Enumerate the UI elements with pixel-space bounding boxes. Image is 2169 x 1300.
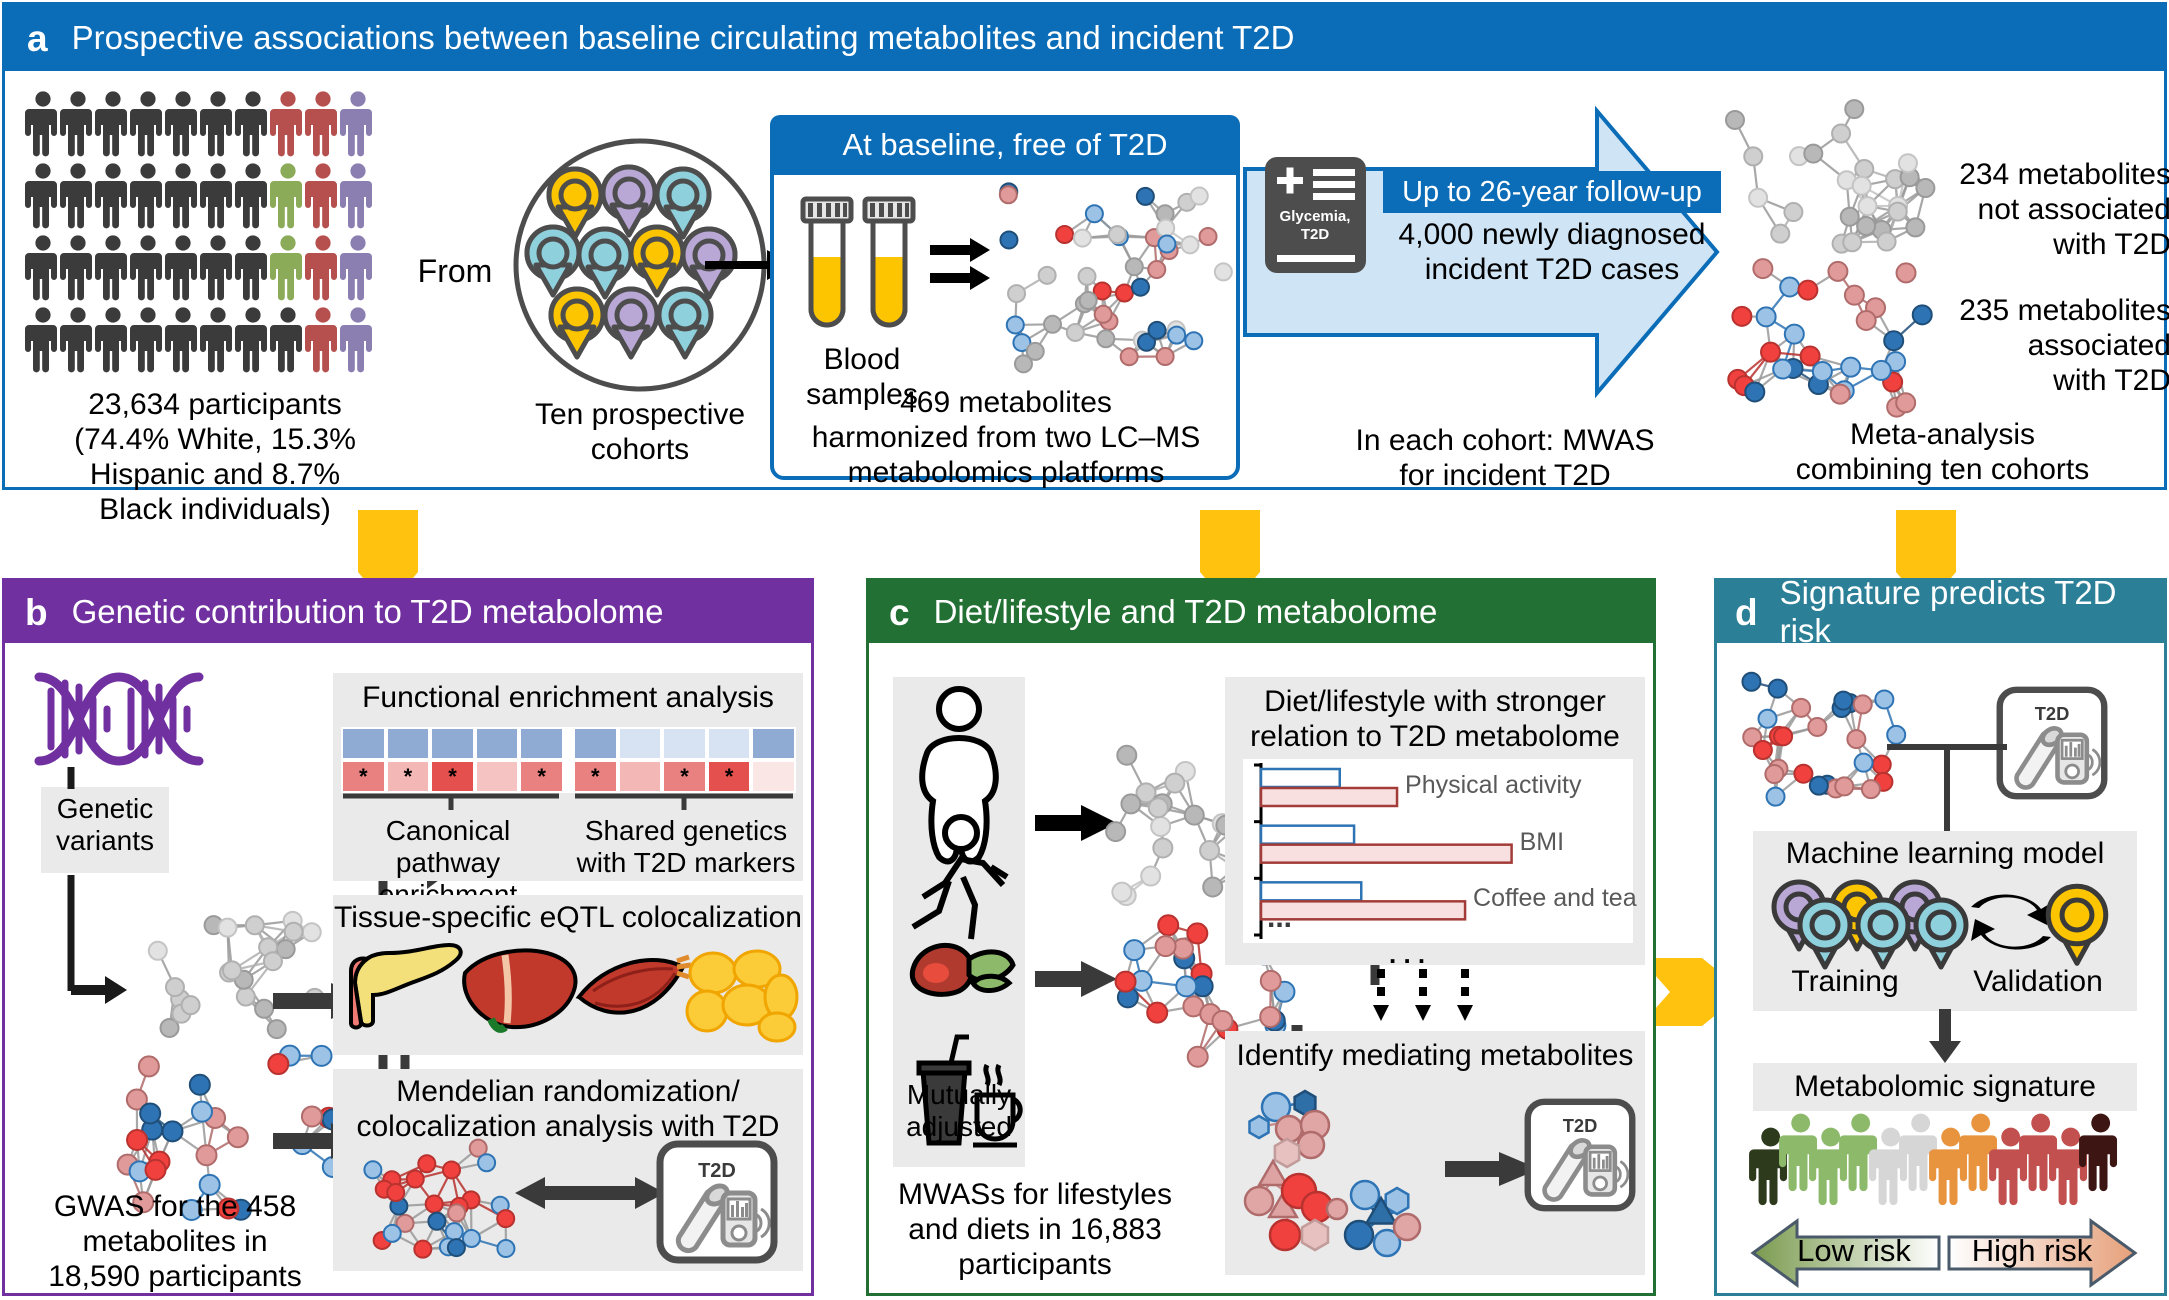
cohorts-caption: Ten prospective cohorts: [495, 397, 785, 467]
muscle-icon: [579, 957, 691, 1013]
network-not-associated: [1723, 95, 1938, 260]
enrichment-cell: [430, 727, 475, 760]
panel-a: a Prospective associations between basel…: [2, 2, 2167, 490]
meat-icon: [912, 945, 1013, 994]
enrichment-cell: *: [519, 760, 564, 793]
panel-c-letter: c: [889, 594, 910, 631]
canonical-label-line-1: Canonical pathway: [335, 815, 561, 879]
svg-text:T2D: T2D: [1301, 226, 1330, 243]
not-assoc-line-1: 234 metabolites: [1935, 157, 2169, 192]
panel-c-header: c Diet/lifestyle and T2D metabolome: [869, 581, 1653, 643]
enrichment-left-row-bottom: ****: [341, 760, 564, 793]
pancreas-icon: [351, 945, 461, 1028]
panel-b-header: b Genetic contribution to T2D metabolome: [5, 581, 811, 643]
training-label: Training: [1765, 965, 1925, 1000]
enrichment-cell: *: [662, 760, 707, 793]
cohorts-caption-line-2: cohorts: [495, 432, 785, 467]
gwas-caption: GWAS for the 458 metabolites in 18,590 p…: [25, 1189, 325, 1294]
metabolite-network-469: [990, 170, 1240, 380]
gwas-caption-line-2: metabolites in: [25, 1224, 325, 1259]
arrow-ml-to-signature: [1927, 1009, 1963, 1063]
participants-caption: 23,634 participants (74.4% White, 15.3% …: [15, 387, 415, 527]
enrichment-cell: *: [573, 760, 618, 793]
participants-caption-line-2: (74.4% White, 15.3%: [15, 422, 415, 457]
metabolites-caption: 469 metabolites harmonized from two LC–M…: [775, 385, 1237, 490]
meta-analysis-caption: Meta-analysis combining ten cohorts: [1715, 417, 2169, 487]
panel-a-letter: a: [27, 20, 48, 57]
cohorts-caption-line-1: Ten prospective: [495, 397, 785, 432]
enrichment-cell: [573, 727, 618, 760]
mwas-caption-line-1: In each cohort: MWAS: [1305, 423, 1705, 458]
network-grey-b: [125, 901, 325, 1051]
metabolites-caption-line-1: 469 metabolites: [775, 385, 1237, 420]
panel-b-letter: b: [25, 594, 48, 631]
enrichment-cell: *: [341, 760, 386, 793]
ml-model-title: Machine learning model: [1753, 837, 2137, 872]
gwas-caption-line-1: GWAS for the 458: [25, 1189, 325, 1224]
blood-tubes-icon: [795, 195, 925, 345]
enrichment-cell: *: [430, 760, 475, 793]
svg-text:T2D: T2D: [698, 1160, 736, 1182]
baseline-banner: At baseline, free of T2D: [770, 115, 1240, 175]
shared-label-line-2: with T2D markers: [571, 847, 801, 879]
participants-caption-line-3: Hispanic and 8.7%: [15, 457, 415, 492]
followup-caption-line-1: 4,000 newly diagnosed: [1373, 217, 1731, 252]
svg-text:Glycemia,: Glycemia,: [1280, 208, 1351, 225]
enrichment-cell: [618, 760, 663, 793]
enrichment-cell: [707, 727, 752, 760]
mutually-adjusted-label: Mutually adjusted: [893, 1079, 1025, 1143]
validation-label: Validation: [1949, 965, 2127, 1000]
assoc-line-2: associated: [1935, 328, 2169, 363]
baseline-banner-text: At baseline, free of T2D: [842, 127, 1167, 163]
t2d-device-icon-c: T2D: [1525, 1099, 1635, 1211]
adipose-icon: [687, 951, 797, 1041]
c-mwas-line-2: and diets in 16,883: [869, 1212, 1201, 1247]
enrichment-right-row-bottom: ***: [573, 760, 796, 793]
panel-c-mwas-caption: MWASs for lifestyles and diets in 16,883…: [869, 1177, 1201, 1282]
enrichment-group-brackets: [341, 793, 796, 815]
enrichment-right-group: ***: [573, 727, 796, 793]
panel-d-header: d Signature predicts T2D risk: [1717, 581, 2164, 643]
network-mr: [347, 1137, 527, 1265]
dna-icon: [31, 669, 221, 769]
glycemia-t2d-book-icon: Glycemia, T2D: [1263, 155, 1368, 275]
mutually-line-2: adjusted: [893, 1111, 1025, 1143]
not-associated-caption: 234 metabolites not associated with T2D: [1935, 157, 2169, 262]
enrichment-heatmap: **** ***: [341, 727, 796, 793]
c-mwas-line-1: MWASs for lifestyles: [869, 1177, 1201, 1212]
diet-lifestyle-bar-chart: Physical activityBMICoffee and tea ...: [1243, 759, 1633, 943]
followup-banner-text: Up to 26-year follow-up: [1402, 176, 1702, 209]
svg-text:T2D: T2D: [2035, 703, 2070, 724]
low-risk-label: Low risk: [1779, 1233, 1929, 1269]
svg-text:T2D: T2D: [1563, 1115, 1598, 1136]
assoc-line-1: 235 metabolites: [1935, 293, 2169, 328]
bars-axis-ellipsis: . . .: [1389, 939, 1425, 970]
t2d-device-icon-b: T2D: [657, 1141, 777, 1263]
associated-caption: 235 metabolites associated with T2D: [1935, 293, 2169, 398]
panel-c: c Diet/lifestyle and T2D metabolome: [866, 578, 1656, 1296]
ml-pins-graphic: [1765, 879, 2125, 969]
enrichment-cell: *: [386, 760, 431, 793]
followup-caption: 4,000 newly diagnosed incident T2D cases: [1373, 217, 1731, 287]
bars-title-line-1: Diet/lifestyle with stronger: [1225, 685, 1645, 720]
shared-label-line-1: Shared genetics: [571, 815, 801, 847]
mr-title: Mendelian randomization/ colocalization …: [333, 1075, 803, 1144]
enrichment-cell: [386, 727, 431, 760]
followup-banner: Up to 26-year follow-up: [1383, 171, 1721, 213]
enrichment-left-group: ****: [341, 727, 564, 793]
panel-b: b Genetic contribution to T2D metabolome…: [2, 578, 814, 1296]
mwas-caption-line-2: for incident T2D: [1305, 458, 1705, 493]
bar-category-label: Physical activity: [1405, 771, 1581, 800]
bars-ellipsis: ...: [1267, 901, 1292, 935]
followup-caption-line-2: incident T2D cases: [1373, 252, 1731, 287]
panel-c-title: Diet/lifestyle and T2D metabolome: [934, 593, 1438, 631]
eqtl-title: Tissue-specific eQTL colocalization: [333, 901, 803, 936]
t-connector-d: [1887, 741, 2017, 839]
functional-enrichment-title: Functional enrichment analysis: [333, 681, 803, 716]
enrichment-cell: [519, 727, 564, 760]
not-assoc-line-3: with T2D: [1935, 227, 2169, 262]
enrichment-cell: [475, 727, 520, 760]
enrichment-left-row-top: [341, 727, 564, 760]
meta-caption-line-2: combining ten cohorts: [1715, 452, 2169, 487]
mediating-metabolites-shapes: [1241, 1085, 1451, 1265]
enrichment-cell: [751, 727, 796, 760]
enrichment-cell: [475, 760, 520, 793]
c-mwas-line-3: participants: [869, 1247, 1201, 1282]
blood-label-line-1: Blood: [787, 343, 937, 378]
bars-title-line-2: relation to T2D metabolome: [1225, 720, 1645, 755]
assoc-line-3: with T2D: [1935, 363, 2169, 398]
shared-genetics-label: Shared genetics with T2D markers: [571, 815, 801, 879]
gwas-caption-line-3: 18,590 participants: [25, 1259, 325, 1294]
double-headed-arrow-mr: [515, 1171, 665, 1215]
enrichment-cell: [341, 727, 386, 760]
enrichment-cell: [618, 727, 663, 760]
mutually-line-1: Mutually: [893, 1079, 1025, 1111]
enrichment-cell: [662, 727, 707, 760]
tissue-icons: [341, 941, 795, 1046]
enrichment-right-row-top: [573, 727, 796, 760]
panel-a-title: Prospective associations between baselin…: [72, 19, 1295, 57]
panel-d-letter: d: [1735, 594, 1758, 631]
participants-caption-line-1: 23,634 participants: [15, 387, 415, 422]
enrichment-cell: *: [707, 760, 752, 793]
dashed-arrows-down: [1369, 969, 1499, 1031]
liver-icon: [464, 950, 575, 1028]
bar-category-label: Coffee and tea: [1473, 884, 1637, 913]
panel-d-title: Signature predicts T2D risk: [1780, 574, 2164, 650]
mwas-cohort-caption: In each cohort: MWAS for incident T2D: [1305, 423, 1705, 493]
meta-caption-line-1: Meta-analysis: [1715, 417, 2169, 452]
double-arrow-to-network: [930, 237, 992, 293]
participants-people-grid: [29, 91, 389, 381]
metabolites-caption-line-3: metabolomics platforms: [775, 455, 1237, 490]
panel-a-header: a Prospective associations between basel…: [5, 5, 2164, 71]
metabolomic-signature-label: Metabolomic signature: [1753, 1070, 2137, 1105]
enrichment-cell: [751, 760, 796, 793]
panel-b-title: Genetic contribution to T2D metabolome: [72, 593, 664, 631]
mr-title-line-1: Mendelian randomization/: [333, 1075, 803, 1110]
mediating-metabolites-title: Identify mediating metabolites: [1225, 1039, 1645, 1074]
metabolites-caption-line-2: harmonized from two LC–MS: [775, 420, 1237, 455]
bar-category-label: BMI: [1520, 828, 1564, 857]
high-risk-label: High risk: [1957, 1233, 2107, 1269]
diet-lifestyle-bars-title: Diet/lifestyle with stronger relation to…: [1225, 685, 1645, 754]
risk-people-row: [1755, 1113, 2137, 1225]
network-associated: [1723, 255, 1938, 420]
not-assoc-line-2: not associated: [1935, 192, 2169, 227]
panel-d: d Signature predicts T2D risk T2D Machin…: [1714, 578, 2167, 1296]
from-label: From: [405, 253, 505, 290]
